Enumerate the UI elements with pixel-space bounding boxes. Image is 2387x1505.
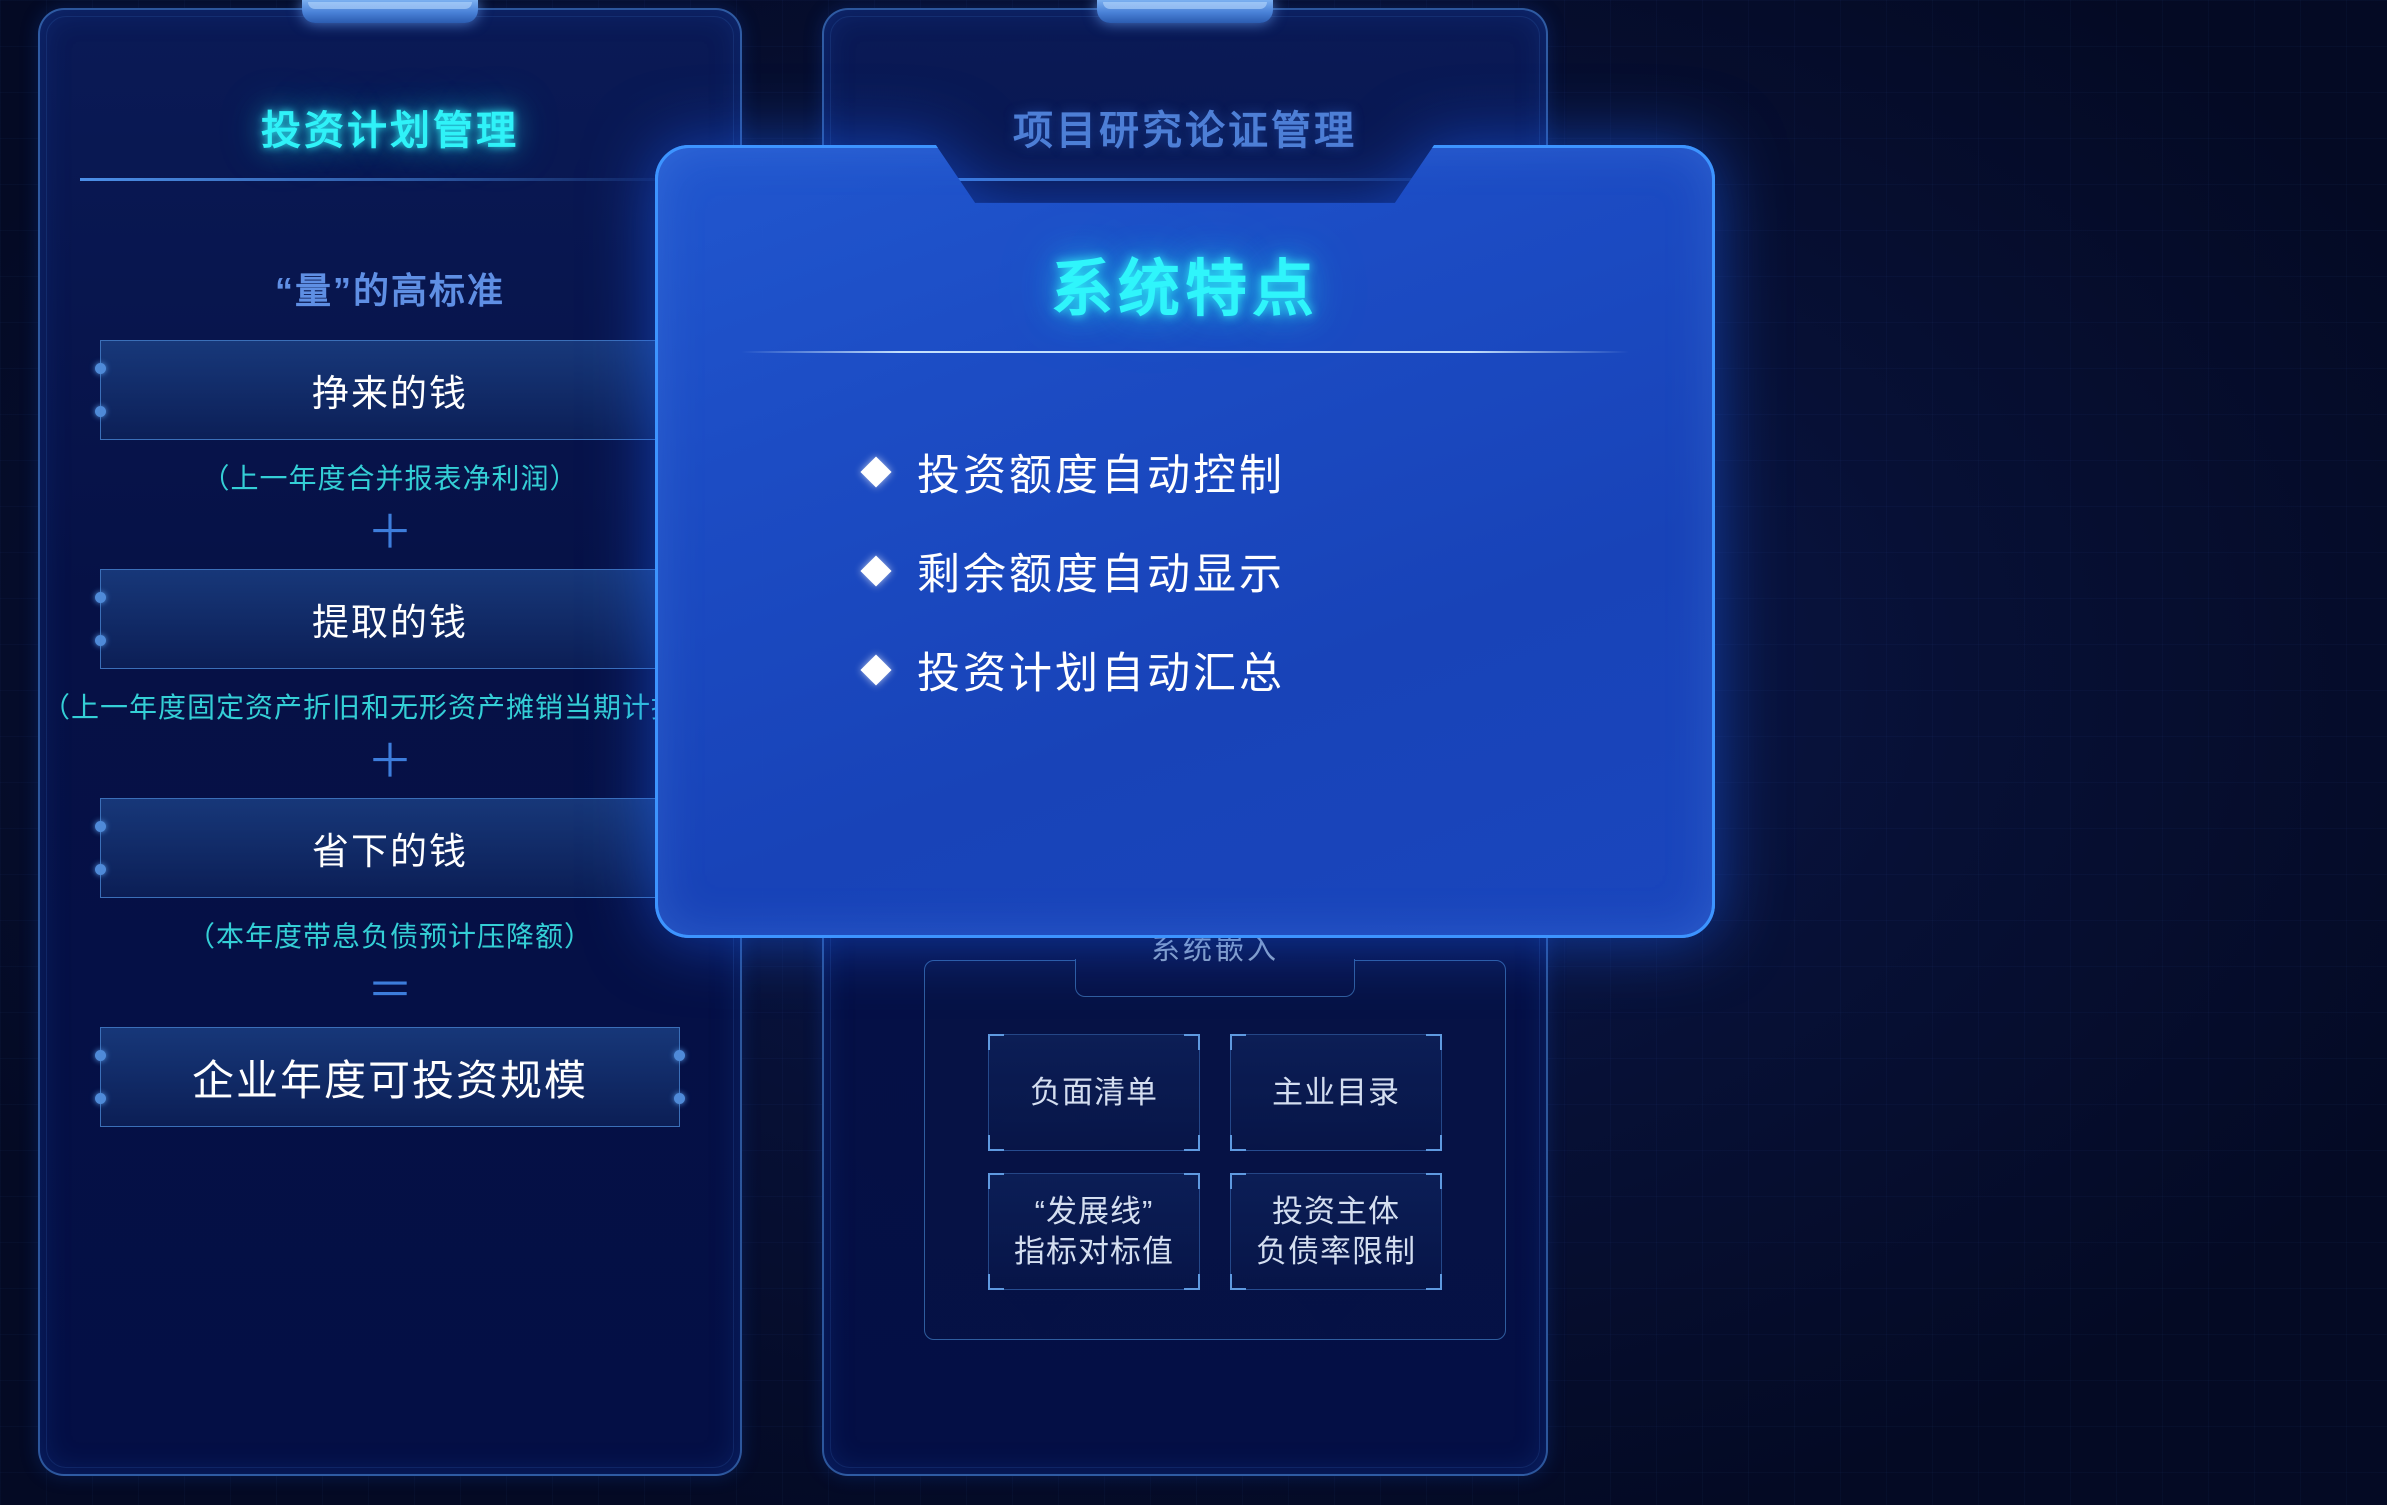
embed-box-debt-ratio-limit[interactable]: 投资主体负债率限制 (1230, 1173, 1442, 1290)
modal-title: 系统特点 (655, 238, 1715, 328)
page-title-left: 投资计划管理 (40, 98, 740, 156)
embed-box-label: 主业目录 (1272, 1073, 1400, 1113)
formula-caption: （上一年度合并报表净利润） (40, 457, 740, 497)
embed-box-label: “发展线”指标对标值 (1014, 1192, 1174, 1271)
formula-box-label: 提取的钱 (312, 592, 468, 646)
embed-box-negative-list[interactable]: 负面清单 (988, 1034, 1200, 1151)
system-embed-grid: 负面清单 主业目录 “发展线”指标对标值 投资主体负债率限制 (988, 1034, 1442, 1290)
formula-operator-plus-1: ＋ (40, 509, 740, 555)
formula-box-saved[interactable]: 省下的钱 (100, 798, 680, 898)
system-features-modal[interactable]: 系统特点 投资额度自动控制 剩余额度自动显示 投资计划自动汇总 (655, 145, 1715, 938)
diamond-bullet-icon (860, 456, 891, 487)
diamond-bullet-icon (860, 555, 891, 586)
panel-right-tab (1097, 0, 1273, 23)
formula-box-earned[interactable]: 挣来的钱 (100, 340, 680, 440)
modal-feature-list: 投资额度自动控制 剩余额度自动显示 投资计划自动汇总 (865, 441, 1285, 738)
diamond-bullet-icon (860, 654, 891, 685)
embed-box-label: 投资主体负债率限制 (1256, 1192, 1416, 1271)
feature-label: 投资额度自动控制 (917, 441, 1285, 503)
subtitle-left: “量”的高标准 (40, 262, 740, 314)
formula-caption: （上一年度固定资产折旧和无形资产摊销当期计提额） (40, 686, 740, 726)
formula-box-label: 挣来的钱 (312, 363, 468, 417)
formula-operator-equals: ＝ (40, 967, 740, 1013)
feature-label: 剩余额度自动显示 (917, 540, 1285, 602)
modal-divider (741, 351, 1629, 353)
embed-box-main-business-catalog[interactable]: 主业目录 (1230, 1034, 1442, 1151)
list-item[interactable]: 剩余额度自动显示 (865, 540, 1285, 602)
formula-box-label: 省下的钱 (312, 821, 468, 875)
feature-label: 投资计划自动汇总 (917, 639, 1285, 701)
list-item[interactable]: 投资计划自动汇总 (865, 639, 1285, 701)
formula-stack: 挣来的钱 （上一年度合并报表净利润） ＋ 提取的钱 （上一年度固定资产折旧和无形… (40, 340, 740, 1127)
panel-investment-plan: 投资计划管理 “量”的高标准 挣来的钱 （上一年度合并报表净利润） ＋ 提取的钱… (38, 8, 742, 1476)
formula-operator-plus-2: ＋ (40, 738, 740, 784)
title-divider-left (80, 178, 700, 181)
embed-box-label: 负面清单 (1030, 1073, 1158, 1113)
list-item[interactable]: 投资额度自动控制 (865, 441, 1285, 503)
formula-caption: （本年度带息负债预计压降额） (40, 915, 740, 955)
formula-box-result[interactable]: 企业年度可投资规模 (100, 1027, 680, 1127)
embed-box-development-line-benchmark[interactable]: “发展线”指标对标值 (988, 1173, 1200, 1290)
formula-box-withdrawn[interactable]: 提取的钱 (100, 569, 680, 669)
panel-left-tab (302, 0, 478, 23)
formula-result-label: 企业年度可投资规模 (192, 1047, 588, 1108)
system-embed-section: 系统嵌入 负面清单 主业目录 “发展线”指标对标值 投资主体负债率限制 (924, 960, 1506, 1340)
